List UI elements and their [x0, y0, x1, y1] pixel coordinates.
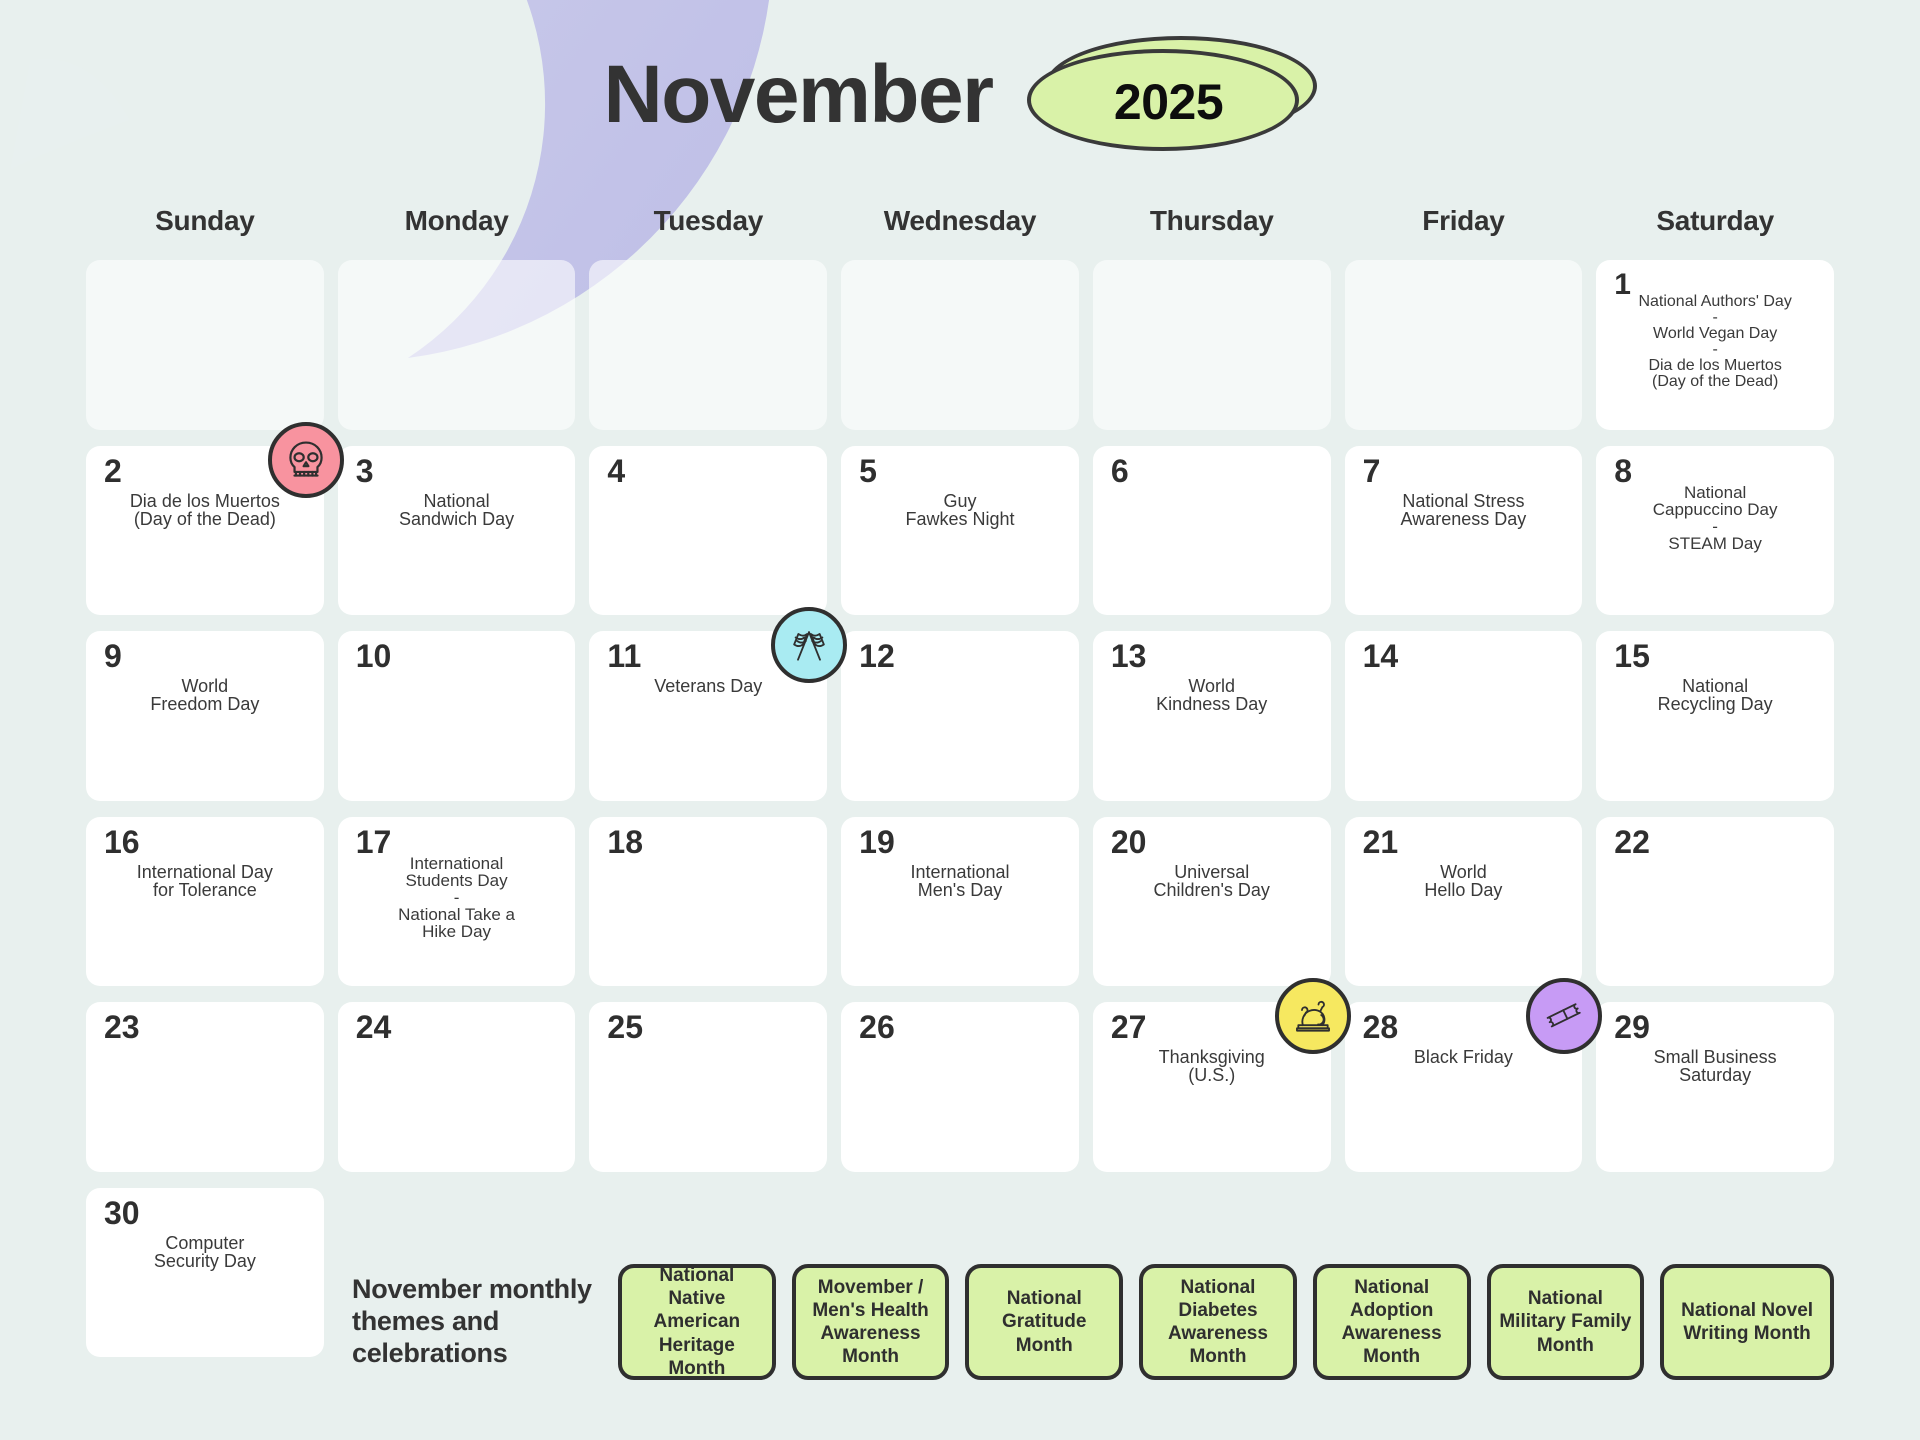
weekday-friday: Friday	[1345, 205, 1583, 237]
theme-chip-diabetes-awareness[interactable]: National Diabetes Awareness Month	[1139, 1264, 1297, 1380]
event-line: Students Day	[348, 872, 566, 889]
calendar-grid: 1 National Authors' Day-World Vegan Day-…	[86, 252, 1834, 1357]
event-separator: -	[1606, 342, 1824, 358]
day-cell-15[interactable]: 15 NationalRecycling Day	[1596, 631, 1834, 801]
day-events: InternationalStudents Day-National Take …	[348, 855, 566, 940]
day-number: 2	[104, 454, 122, 489]
day-number: 24	[356, 1010, 392, 1045]
day-number: 27	[1111, 1010, 1147, 1045]
event-line: Awareness Day	[1355, 510, 1573, 528]
day-number: 4	[607, 454, 625, 489]
event-line: Children's Day	[1103, 881, 1321, 899]
day-number: 16	[104, 825, 140, 860]
day-cell-22[interactable]: 22	[1596, 817, 1834, 987]
day-number: 22	[1614, 825, 1650, 860]
event-line: International	[348, 855, 566, 872]
day-number: 11	[607, 639, 641, 674]
day-cell-10[interactable]: 10	[338, 631, 576, 801]
theme-chip-military-family[interactable]: National Military Family Month	[1487, 1264, 1645, 1380]
day-number: 14	[1363, 639, 1399, 674]
day-events: National Authors' Day-World Vegan Day-Di…	[1606, 294, 1824, 390]
day-cell-empty	[86, 260, 324, 430]
event-line: Cappuccino Day	[1606, 501, 1824, 518]
day-events: GuyFawkes Night	[851, 492, 1069, 528]
day-number: 19	[859, 825, 895, 860]
day-events: NationalCappuccino Day-STEAM Day	[1606, 484, 1824, 552]
theme-chip-native-american-heritage[interactable]: National Native American Heritage Month	[618, 1264, 776, 1380]
day-cell-21[interactable]: 21 WorldHello Day	[1345, 817, 1583, 987]
day-cell-26[interactable]: 26	[841, 1002, 1079, 1172]
day-cell-empty	[1093, 260, 1331, 430]
day-events: NationalRecycling Day	[1606, 677, 1824, 713]
event-line: Men's Day	[851, 881, 1069, 899]
day-cell-20[interactable]: 20 UniversalChildren's Day	[1093, 817, 1331, 987]
day-number: 3	[356, 454, 374, 489]
event-line: Guy	[851, 492, 1069, 510]
day-cell-empty	[589, 260, 827, 430]
event-line: International	[851, 863, 1069, 881]
theme-chip-adoption-awareness[interactable]: National Adoption Awareness Month	[1313, 1264, 1471, 1380]
event-line: Dia de los Muertos	[96, 492, 314, 510]
day-cell-5[interactable]: 5 GuyFawkes Night	[841, 446, 1079, 616]
monthly-themes-row: November monthly themes and celebrations…	[86, 1242, 1834, 1402]
day-number: 6	[1111, 454, 1129, 489]
day-cell-1[interactable]: 1 National Authors' Day-World Vegan Day-…	[1596, 260, 1834, 430]
day-cell-25[interactable]: 25	[589, 1002, 827, 1172]
event-line: Hike Day	[348, 923, 566, 940]
weekday-sunday: Sunday	[86, 205, 324, 237]
day-number: 10	[356, 639, 392, 674]
day-cell-12[interactable]: 12	[841, 631, 1079, 801]
day-cell-empty	[338, 260, 576, 430]
event-line: Hello Day	[1355, 881, 1573, 899]
day-cell-8[interactable]: 8 NationalCappuccino Day-STEAM Day	[1596, 446, 1834, 616]
day-number: 23	[104, 1010, 140, 1045]
day-events: WorldHello Day	[1355, 863, 1573, 899]
day-number: 30	[104, 1196, 140, 1231]
day-cell-3[interactable]: 3 NationalSandwich Day	[338, 446, 576, 616]
day-events: National StressAwareness Day	[1355, 492, 1573, 528]
event-line: Thanksgiving	[1103, 1048, 1321, 1066]
event-line: National	[1606, 677, 1824, 695]
theme-chip-gratitude[interactable]: National Gratitude Month	[965, 1264, 1123, 1380]
day-events: Thanksgiving(U.S.)	[1103, 1048, 1321, 1084]
theme-chip-movember[interactable]: Movember / Men's Health Awareness Month	[792, 1264, 950, 1380]
event-line: World	[96, 677, 314, 695]
day-number: 13	[1111, 639, 1147, 674]
event-line: National	[348, 492, 566, 510]
event-line: Small Business	[1606, 1048, 1824, 1066]
event-line: National	[1606, 484, 1824, 501]
day-cell-13[interactable]: 13 WorldKindness Day	[1093, 631, 1331, 801]
event-line: Universal	[1103, 863, 1321, 881]
skull-icon	[268, 422, 344, 498]
day-events: Dia de los Muertos(Day of the Dead)	[96, 492, 314, 528]
theme-chip-novel-writing[interactable]: National Novel Writing Month	[1660, 1264, 1834, 1380]
turkey-icon	[1275, 978, 1351, 1054]
day-number: 21	[1363, 825, 1399, 860]
day-cell-14[interactable]: 14	[1345, 631, 1583, 801]
event-line: National Take a	[348, 906, 566, 923]
day-events: Small BusinessSaturday	[1606, 1048, 1824, 1084]
event-line: Saturday	[1606, 1066, 1824, 1084]
ticket-icon	[1526, 978, 1602, 1054]
day-number: 12	[859, 639, 895, 674]
event-line: STEAM Day	[1606, 535, 1824, 552]
day-cell-29[interactable]: 29 Small BusinessSaturday	[1596, 1002, 1834, 1172]
day-number: 9	[104, 639, 122, 674]
day-cell-empty	[1345, 260, 1583, 430]
event-line: World	[1103, 677, 1321, 695]
event-line: Kindness Day	[1103, 695, 1321, 713]
day-number: 15	[1614, 639, 1650, 674]
day-cell-18[interactable]: 18	[589, 817, 827, 987]
event-line: Sandwich Day	[348, 510, 566, 528]
event-line: National Authors' Day	[1606, 294, 1824, 310]
event-line: Freedom Day	[96, 695, 314, 713]
event-line: World Vegan Day	[1606, 326, 1824, 342]
event-line: (Day of the Dead)	[96, 510, 314, 528]
day-events: NationalSandwich Day	[348, 492, 566, 528]
weekday-header-row: Sunday Monday Tuesday Wednesday Thursday…	[86, 190, 1834, 252]
weekday-monday: Monday	[338, 205, 576, 237]
day-events: UniversalChildren's Day	[1103, 863, 1321, 899]
event-line: (U.S.)	[1103, 1066, 1321, 1084]
event-line: for Tolerance	[96, 881, 314, 899]
event-line: World	[1355, 863, 1573, 881]
day-number: 7	[1363, 454, 1381, 489]
day-cell-7[interactable]: 7 National StressAwareness Day	[1345, 446, 1583, 616]
day-events: WorldKindness Day	[1103, 677, 1321, 713]
day-events: Veterans Day	[599, 677, 817, 695]
day-number: 25	[607, 1010, 643, 1045]
weekday-wednesday: Wednesday	[841, 205, 1079, 237]
day-number: 29	[1614, 1010, 1650, 1045]
monthly-themes-label: November monthly themes and celebrations	[352, 1274, 602, 1370]
day-number: 28	[1363, 1010, 1399, 1045]
calendar-page: November 2025 Sunday Monday Tuesday Wedn…	[0, 0, 1920, 1440]
day-events: International Dayfor Tolerance	[96, 863, 314, 899]
crossed-flags-icon	[771, 607, 847, 683]
day-cell-17[interactable]: 17 InternationalStudents Day-National Ta…	[338, 817, 576, 987]
calendar-header: November 2025	[86, 0, 1834, 190]
weekday-saturday: Saturday	[1596, 205, 1834, 237]
day-cell-9[interactable]: 9 WorldFreedom Day	[86, 631, 324, 801]
event-line: National Stress	[1355, 492, 1573, 510]
day-cell-19[interactable]: 19 InternationalMen's Day	[841, 817, 1079, 987]
day-events: InternationalMen's Day	[851, 863, 1069, 899]
event-line: Veterans Day	[599, 677, 817, 695]
event-line: Black Friday	[1355, 1048, 1573, 1066]
day-number: 20	[1111, 825, 1147, 860]
year-label: 2025	[1114, 73, 1223, 131]
day-cell-4[interactable]: 4	[589, 446, 827, 616]
event-separator: -	[1606, 518, 1824, 535]
event-separator: -	[348, 889, 566, 906]
day-cell-16[interactable]: 16 International Dayfor Tolerance	[86, 817, 324, 987]
event-separator: -	[1606, 310, 1824, 326]
event-line: (Day of the Dead)	[1606, 374, 1824, 390]
day-number: 26	[859, 1010, 895, 1045]
day-cell-empty	[841, 260, 1079, 430]
day-events: Black Friday	[1355, 1048, 1573, 1066]
page-title: November	[603, 54, 992, 136]
event-line: International Day	[96, 863, 314, 881]
day-cell-23[interactable]: 23	[86, 1002, 324, 1172]
event-line: Fawkes Night	[851, 510, 1069, 528]
weekday-tuesday: Tuesday	[589, 205, 827, 237]
event-line: Recycling Day	[1606, 695, 1824, 713]
year-badge: 2025	[1027, 36, 1317, 154]
weekday-thursday: Thursday	[1093, 205, 1331, 237]
day-cell-28[interactable]: 28 Black Friday	[1345, 1002, 1583, 1172]
day-events: WorldFreedom Day	[96, 677, 314, 713]
day-cell-2[interactable]: 2 Dia de los Muertos(Day of the Dead)	[86, 446, 324, 616]
day-cell-27[interactable]: 27 Thanksgiving(U.S.)	[1093, 1002, 1331, 1172]
day-cell-24[interactable]: 24	[338, 1002, 576, 1172]
day-number: 5	[859, 454, 877, 489]
day-cell-6[interactable]: 6	[1093, 446, 1331, 616]
day-cell-11[interactable]: 11 Veterans Day	[589, 631, 827, 801]
event-line: Dia de los Muertos	[1606, 358, 1824, 374]
day-number: 18	[607, 825, 643, 860]
